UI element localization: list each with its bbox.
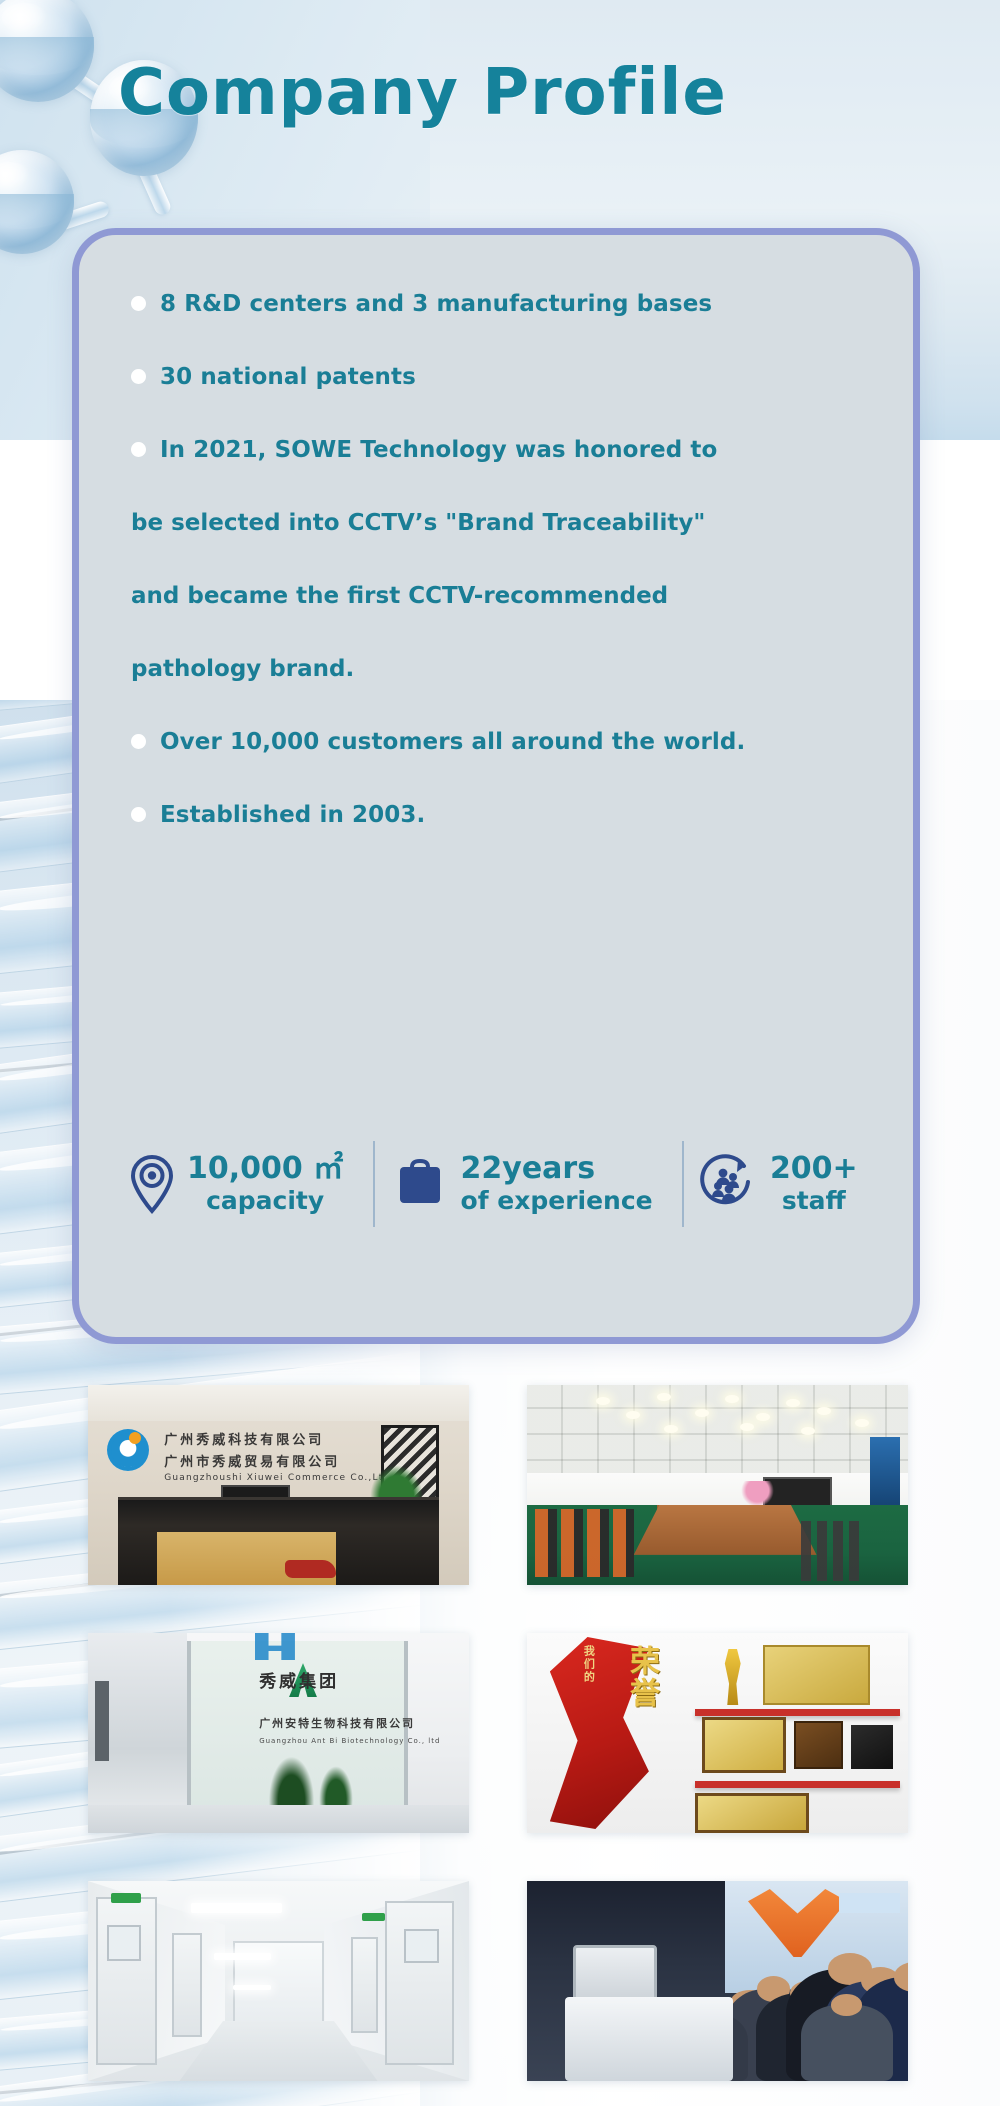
company-logo-icon (107, 1429, 149, 1471)
sign-text-cn-2: 广州安特生物科技有限公司 (259, 1715, 415, 1731)
bullet-dot-icon (131, 442, 146, 457)
bullet-text: 30 national patents (160, 360, 416, 395)
stat-value: 22years (461, 1152, 653, 1186)
sign-text-cn-2: 广州市秀威贸易有限公司 (164, 1451, 340, 1470)
photo-conference-room (527, 1385, 908, 1585)
stat-value: 200+ (770, 1152, 858, 1186)
bullet-text: In 2021, SOWE Technology was honored to (160, 433, 717, 468)
sign-text-en: Guangzhou Ant Bi Biotechnology Co., ltd (259, 1737, 440, 1745)
paragraph-line: pathology brand. (131, 652, 879, 687)
stat-experience: 22years of experience (379, 1152, 678, 1216)
stat-value: 10,000 ㎡ (187, 1152, 343, 1186)
photo-reception-desk: 广州秀威科技有限公司 广州市秀威贸易有限公司 Guangzhoushi Xiuw… (88, 1385, 469, 1585)
company-profile-card: 8 R&D centers and 3 manufacturing bases … (72, 228, 920, 1344)
stat-label: of experience (461, 1186, 653, 1216)
bullet-dot-icon (131, 807, 146, 822)
person-silhouette (801, 2005, 892, 2081)
list-item: Established in 2003. (131, 798, 879, 833)
bullet-dot-icon (131, 369, 146, 384)
sign-text-cn-1: 广州秀威科技有限公司 (164, 1429, 324, 1448)
bullet-list: 8 R&D centers and 3 manufacturing bases … (131, 287, 879, 871)
paragraph-line: and became the first CCTV-recommended (131, 579, 879, 614)
stat-label: staff (770, 1186, 858, 1216)
stat-divider (373, 1141, 375, 1227)
paragraph-line: be selected into CCTV’s "Brand Traceabil… (131, 506, 879, 541)
bullet-text: 8 R&D centers and 3 manufacturing bases (160, 287, 712, 322)
bullet-text: Established in 2003. (160, 798, 425, 833)
person-head (831, 1994, 862, 2015)
photo-cleanroom-corridor (88, 1881, 469, 2081)
sign-text-en: Guangzhoushi Xiuwei Commerce Co.,Ltd (164, 1473, 390, 1483)
list-item: 8 R&D centers and 3 manufacturing bases (131, 287, 879, 322)
staff-group-icon (698, 1153, 760, 1215)
stats-row: 10,000 ㎡ capacity 22years of experience (117, 1141, 883, 1227)
honor-banner-text: 荣誉 (626, 1645, 656, 1709)
photo-honor-award-wall: 我们的 荣誉 (527, 1633, 908, 1833)
list-item: Over 10,000 customers all around the wor… (131, 725, 879, 760)
honor-banner-subtext: 我们的 (580, 1645, 596, 1684)
sign-text-cn-1: 秀威集团 (259, 1667, 339, 1692)
photo-exhibition-booth (527, 1881, 908, 2081)
bullet-text: Over 10,000 customers all around the wor… (160, 725, 745, 760)
stat-capacity: 10,000 ㎡ capacity (117, 1152, 369, 1216)
bullet-dot-icon (131, 296, 146, 311)
photo-office-entrance: 秀威集团 广州安特生物科技有限公司 Guangzhou Ant Bi Biote… (88, 1633, 469, 1833)
stat-staff: 200+ staff (688, 1152, 883, 1216)
list-item: 30 national patents (131, 360, 879, 395)
location-pin-icon (127, 1153, 177, 1215)
photo-gallery: 广州秀威科技有限公司 广州市秀威贸易有限公司 Guangzhoushi Xiuw… (88, 1385, 908, 2081)
stat-divider (682, 1141, 684, 1227)
briefcase-icon (389, 1153, 451, 1215)
page-title: Company Profile (118, 56, 727, 130)
stat-label: capacity (187, 1186, 343, 1216)
bullet-dot-icon (131, 734, 146, 749)
list-item: In 2021, SOWE Technology was honored to (131, 433, 879, 468)
